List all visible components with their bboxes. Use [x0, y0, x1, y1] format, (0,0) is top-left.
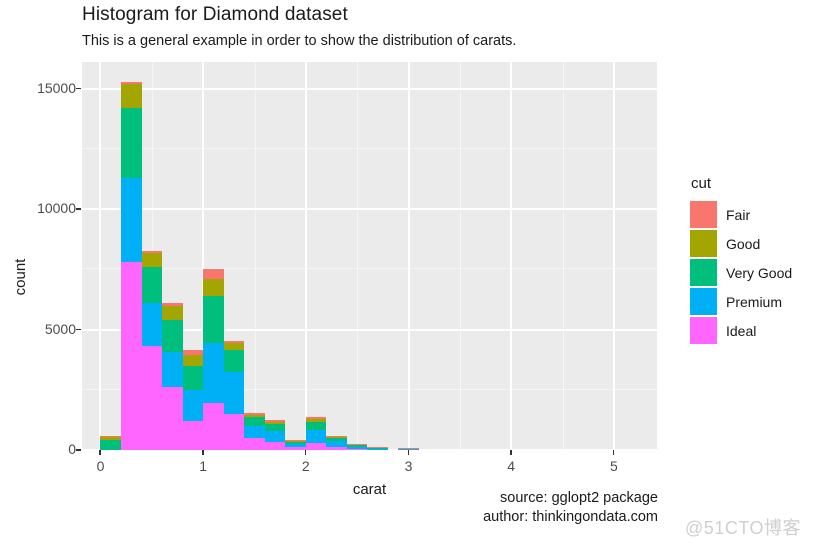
y-tick-mark [76, 329, 81, 331]
chart-caption: source: gglopt2 package author: thinking… [483, 489, 658, 527]
legend-label: Good [726, 236, 760, 252]
x-tick-mark [99, 450, 101, 455]
bar-segment-very-good [224, 350, 245, 372]
bar-segment-premium [285, 444, 306, 447]
legend-item-ideal[interactable]: Ideal [690, 316, 792, 345]
legend-swatch-icon [690, 230, 717, 257]
bar-segment-good [244, 415, 265, 418]
x-tick-mark [613, 450, 615, 455]
legend-key [690, 288, 717, 315]
bar-segment-fair [306, 417, 327, 419]
bar-segment-ideal [162, 387, 183, 450]
y-tick-label: 10000 [37, 200, 76, 216]
bar-segment-ideal [326, 447, 347, 450]
legend-swatch-icon [690, 288, 717, 315]
bar-segment-fair [244, 413, 265, 414]
bar-segment-good [285, 441, 306, 442]
bar-segment-very-good [326, 438, 347, 441]
bar-segment-good [162, 306, 183, 319]
histogram-bar [265, 420, 286, 450]
bar-segment-fair [100, 436, 121, 437]
x-tick-label: 4 [496, 458, 526, 474]
histogram-bar [367, 447, 388, 450]
x-tick-label: 5 [599, 458, 629, 474]
legend-swatch-icon [690, 201, 717, 228]
y-tick-mark [76, 208, 81, 210]
x-tick-label: 3 [394, 458, 424, 474]
bar-segment-fair [326, 436, 347, 437]
legend-item-good[interactable]: Good [690, 229, 792, 258]
bar-segment-very-good [306, 422, 327, 430]
histogram-bar [142, 251, 163, 450]
bar-segment-good [326, 437, 347, 438]
bar-segment-premium [162, 352, 183, 387]
x-tick-mark [408, 450, 410, 455]
bar-segment-fair [203, 269, 224, 279]
bar-segment-good [306, 419, 327, 422]
bar-segment-good [121, 84, 142, 108]
bar-segment-premium [142, 303, 163, 346]
caption-source: source: gglopt2 package [483, 489, 658, 508]
legend-item-premium[interactable]: Premium [690, 287, 792, 316]
bar-segment-ideal [203, 403, 224, 450]
bar-segment-fair [224, 341, 245, 342]
histogram-bar [326, 436, 347, 450]
bar-segment-very-good [203, 296, 224, 343]
bar-segment-fair [367, 447, 388, 448]
chart-canvas: Histogram for Diamond dataset This is a … [0, 0, 813, 554]
bar-segment-ideal [121, 262, 142, 450]
bar-segment-ideal [306, 443, 327, 450]
bar-segment-ideal [244, 438, 265, 450]
bar-segment-fair [285, 440, 306, 441]
bar-segment-premium [326, 441, 347, 447]
legend-key [690, 230, 717, 257]
y-tick-label: 15000 [37, 80, 76, 96]
caption-author: author: thinkingondata.com [483, 508, 658, 527]
bar-segment-good [142, 253, 163, 266]
x-tick-mark [202, 450, 204, 455]
y-tick-label: 0 [68, 441, 76, 457]
legend-items: FairGoodVery GoodPremiumIdeal [690, 200, 792, 345]
y-tick-label: 5000 [45, 321, 76, 337]
bar-segment-very-good [121, 108, 142, 178]
bar-segment-ideal [265, 442, 286, 450]
bar-segment-very-good [244, 417, 265, 425]
histogram-bar [285, 441, 306, 450]
bar-segment-premium [203, 343, 224, 403]
legend-label: Ideal [726, 323, 756, 339]
bar-segment-premium [306, 430, 327, 443]
bar-segment-ideal [285, 447, 306, 450]
bar-segment-premium [367, 449, 388, 450]
legend-item-fair[interactable]: Fair [690, 200, 792, 229]
bar-segment-very-good [100, 440, 121, 450]
y-tick-mark [76, 88, 81, 90]
page-title: Histogram for Diamond dataset [82, 4, 348, 26]
legend-key [690, 317, 717, 344]
bar-segment-premium [121, 178, 142, 262]
histogram-bar [347, 444, 368, 450]
histogram-bar [244, 413, 265, 450]
legend-swatch-icon [690, 259, 717, 286]
x-tick-label: 2 [291, 458, 321, 474]
bar-segment-fair [347, 444, 368, 445]
bar-segment-very-good [347, 445, 368, 446]
bar-segment-very-good [162, 320, 183, 353]
bar-segment-premium [347, 447, 368, 449]
bar-segment-premium [224, 372, 245, 414]
bar-segment-ideal [142, 346, 163, 450]
bar-segment-good [100, 437, 121, 440]
histogram-bar [162, 303, 183, 450]
bar-segment-ideal [224, 414, 245, 450]
x-tick-label: 0 [85, 458, 115, 474]
bar-segment-premium [244, 426, 265, 439]
bar-segment-good [203, 279, 224, 296]
legend-key [690, 201, 717, 228]
bar-segment-ideal [347, 449, 368, 450]
histogram-bar [306, 417, 327, 450]
x-tick-mark [510, 450, 512, 455]
bar-segment-fair [265, 420, 286, 421]
bar-segment-fair [121, 82, 142, 83]
legend: cut FairGoodVery GoodPremiumIdeal [690, 175, 792, 345]
bar-segment-very-good [285, 442, 306, 444]
legend-title: cut [690, 175, 792, 192]
watermark: @51CTO博客 [685, 514, 801, 540]
legend-key [690, 259, 717, 286]
y-tick-mark [76, 449, 81, 451]
x-tick-label: 1 [188, 458, 218, 474]
histogram-bars [82, 62, 657, 450]
legend-label: Premium [726, 294, 782, 310]
legend-item-very-good[interactable]: Very Good [690, 258, 792, 287]
bar-segment-very-good [183, 366, 204, 390]
bar-segment-premium [183, 390, 204, 421]
chart-subtitle: This is a general example in order to sh… [82, 33, 516, 49]
bar-segment-premium [265, 431, 286, 441]
legend-label: Fair [726, 207, 750, 223]
plot-panel [82, 62, 657, 450]
histogram-bar [203, 269, 224, 450]
histogram-bar [224, 341, 245, 450]
legend-swatch-icon [690, 317, 717, 344]
bar-segment-fair [398, 448, 419, 449]
bar-segment-good [183, 355, 204, 366]
histogram-bar [183, 350, 204, 450]
bar-segment-fair [162, 303, 183, 307]
bar-segment-fair [183, 350, 204, 355]
x-tick-mark [305, 450, 307, 455]
bar-segment-very-good [142, 267, 163, 303]
bar-segment-very-good [265, 424, 286, 431]
bar-segment-good [224, 343, 245, 350]
bar-segment-good [265, 422, 286, 425]
histogram-bar [100, 436, 121, 450]
legend-label: Very Good [726, 265, 792, 281]
histogram-bar [121, 82, 142, 450]
bar-segment-fair [142, 251, 163, 253]
bar-segment-ideal [183, 421, 204, 450]
y-axis-title: count [12, 259, 29, 296]
